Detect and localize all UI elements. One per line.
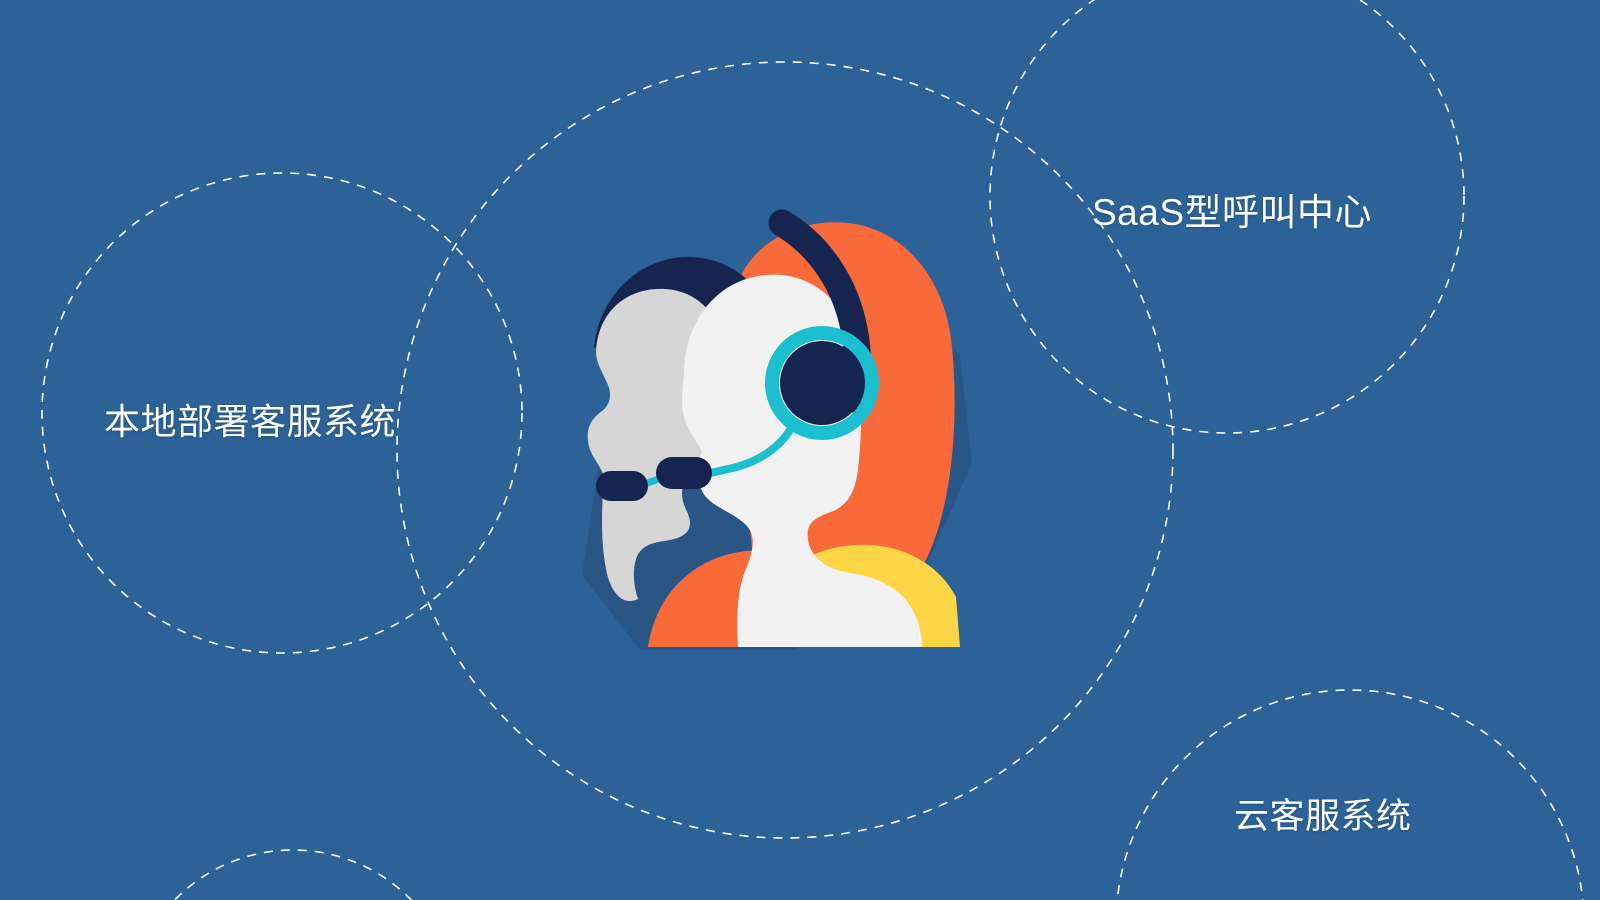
label-local-deployment: 本地部署客服系统 bbox=[104, 393, 396, 445]
bottom-left-circle bbox=[128, 850, 458, 900]
back-agent-mic-tip bbox=[596, 471, 648, 501]
label-cloud-service: 云客服系统 bbox=[1234, 788, 1412, 839]
two-headset-support-agents-illustration bbox=[560, 195, 1000, 675]
front-agent-mic-tip bbox=[656, 457, 712, 489]
headphone-earcup bbox=[780, 341, 864, 425]
label-saas-call-center: SaaS型呼叫中心 bbox=[1092, 182, 1372, 236]
hero-banner: 本地部署客服系统 SaaS型呼叫中心 云客服系统 bbox=[0, 0, 1600, 900]
